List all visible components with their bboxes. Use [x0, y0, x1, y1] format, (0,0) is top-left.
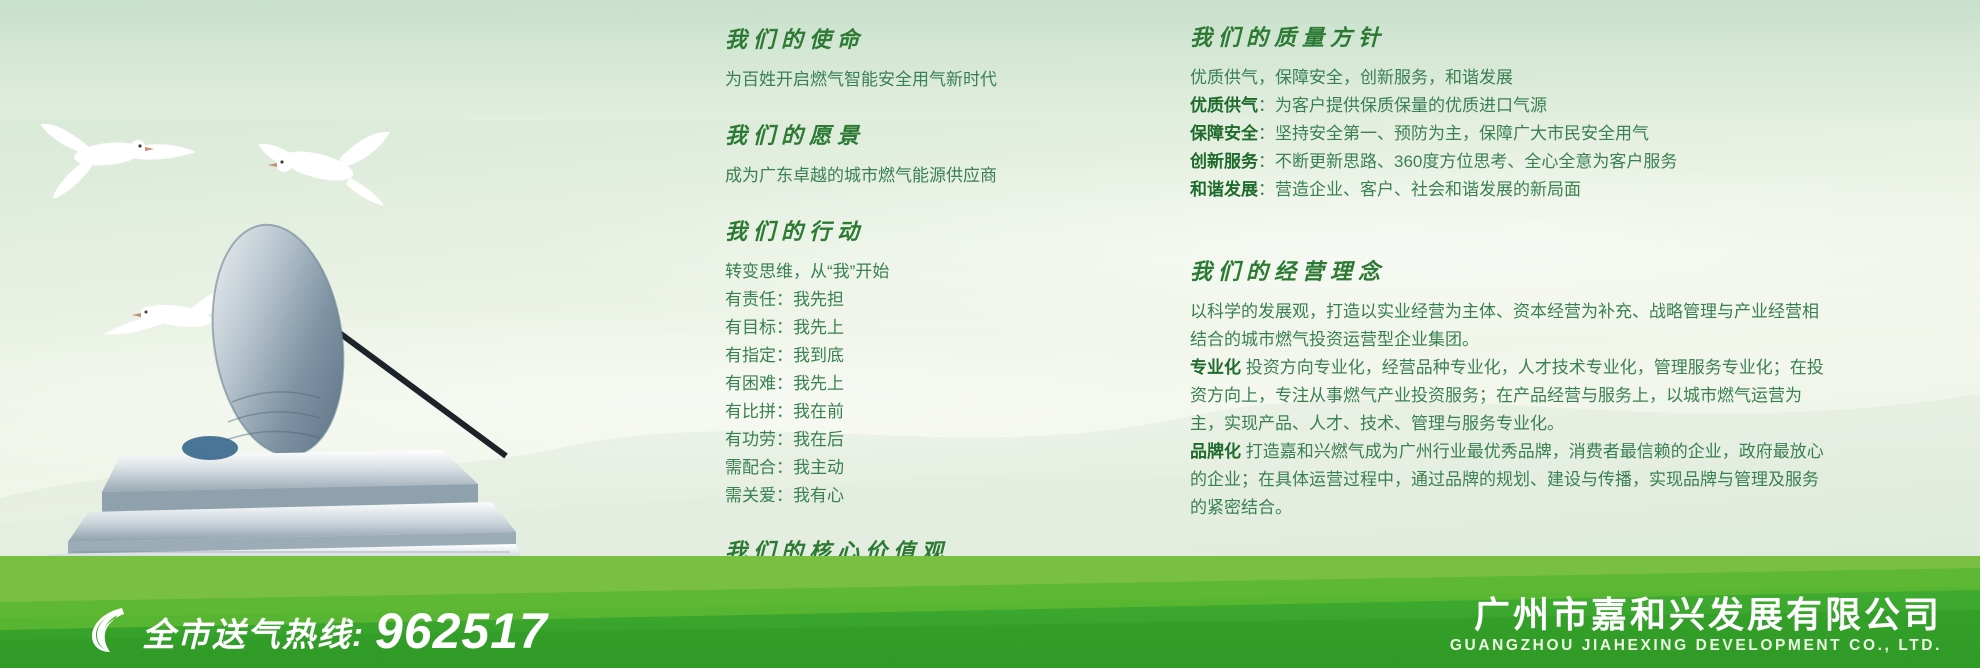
action-line: 需配合：我主动 [725, 454, 1125, 482]
company-identity: 广州市嘉和兴发展有限公司 GUANGZHOU JIAHEXING DEVELOP… [1450, 595, 1942, 656]
poster-canvas: 我们的使命 为百姓开启燃气智能安全用气新时代 我们的愿景 成为广东卓越的城市燃气… [0, 0, 1980, 668]
quality-policy-key: 和谐发展 [1190, 180, 1258, 199]
stone-sundial-sculpture [10, 140, 530, 570]
phone-icon [86, 604, 132, 654]
mission-block: 我们的使命 为百姓开启燃气智能安全用气新时代 [725, 22, 1125, 94]
management-philosophy-item: 专业化 投资方向专业化，经营品种专业化，人才技术专业化，管理服务专业化；在投资方… [1190, 354, 1830, 438]
quality-policy-summary: 优质供气，保障安全，创新服务，和谐发展 [1190, 64, 1830, 92]
action-line: 有功劳：我在后 [725, 426, 1125, 454]
quality-policy-key: 优质供气 [1190, 96, 1258, 115]
action-heading: 我们的行动 [725, 214, 1125, 246]
action-line: 转变思维，从“我”开始 [725, 258, 1125, 286]
hotline-group: 全市送气热线: 962517 [86, 604, 548, 654]
company-name-en: GUANGZHOU JIAHEXING DEVELOPMENT CO., LTD… [1450, 637, 1942, 656]
quality-policy-sep: ： [1258, 152, 1275, 171]
quality-policy-text: 坚持安全第一、预防为主，保障广大市民安全用气 [1275, 124, 1649, 143]
vision-block: 我们的愿景 成为广东卓越的城市燃气能源供应商 [725, 118, 1125, 190]
action-line: 有目标：我先上 [725, 314, 1125, 342]
hotline-number: 962517 [375, 608, 548, 654]
quality-policy-sep: ： [1258, 124, 1275, 143]
action-line: 有责任：我先担 [725, 286, 1125, 314]
quality-policy-text: 营造企业、客户、社会和谐发展的新局面 [1275, 180, 1581, 199]
management-philosophy-heading: 我们的经营理念 [1190, 254, 1830, 286]
quality-policy-item: 优质供气：为客户提供保质保量的优质进口气源 [1190, 92, 1830, 120]
action-line: 有困难：我先上 [725, 370, 1125, 398]
management-philosophy-item: 品牌化 打造嘉和兴燃气成为广州行业最优秀品牌，消费者最信赖的企业，政府最放心的企… [1190, 438, 1830, 522]
action-line: 需关爱：我有心 [725, 482, 1125, 510]
quality-policy-item: 创新服务：不断更新思路、360度方位思考、全心全意为客户服务 [1190, 148, 1830, 176]
quality-policy-block: 我们的质量方针 优质供气，保障安全，创新服务，和谐发展 优质供气：为客户提供保质… [1190, 20, 1830, 204]
action-line: 有比拼：我在前 [725, 398, 1125, 426]
action-line: 有指定：我到底 [725, 342, 1125, 370]
management-philosophy-key: 品牌化 [1190, 442, 1241, 461]
right-text-column: 我们的质量方针 优质供气，保障安全，创新服务，和谐发展 优质供气：为客户提供保质… [1190, 20, 1830, 644]
section-spacer [1190, 228, 1830, 254]
bottom-banner: 全市送气热线: 962517 广州市嘉和兴发展有限公司 GUANGZHOU JI… [0, 556, 1980, 668]
quality-policy-text: 为客户提供保质保量的优质进口气源 [1275, 96, 1547, 115]
quality-policy-heading: 我们的质量方针 [1190, 20, 1830, 52]
quality-policy-item: 和谐发展：营造企业、客户、社会和谐发展的新局面 [1190, 176, 1830, 204]
management-philosophy-text: 打造嘉和兴燃气成为广州行业最优秀品牌，消费者最信赖的企业，政府最放心的企业；在具… [1190, 442, 1824, 517]
mission-line: 为百姓开启燃气智能安全用气新时代 [725, 66, 1125, 94]
vision-heading: 我们的愿景 [725, 118, 1125, 150]
mission-heading: 我们的使命 [725, 22, 1125, 54]
quality-policy-sep: ： [1258, 96, 1275, 115]
quality-policy-text: 不断更新思路、360度方位思考、全心全意为客户服务 [1275, 152, 1677, 171]
quality-policy-key: 保障安全 [1190, 124, 1258, 143]
management-philosophy-block: 我们的经营理念 以科学的发展观，打造以实业经营为主体、资本经营为补充、战略管理与… [1190, 254, 1830, 522]
company-name-cn: 广州市嘉和兴发展有限公司 [1450, 595, 1942, 635]
vision-line: 成为广东卓越的城市燃气能源供应商 [725, 162, 1125, 190]
quality-policy-key: 创新服务 [1190, 152, 1258, 171]
quality-policy-sep: ： [1258, 180, 1275, 199]
management-philosophy-text: 投资方向专业化，经营品种专业化，人才技术专业化，管理服务专业化；在投资方向上，专… [1190, 358, 1824, 433]
management-philosophy-intro: 以科学的发展观，打造以实业经营为主体、资本经营为补充、战略管理与产业经营相结合的… [1190, 298, 1830, 354]
action-block: 我们的行动 转变思维，从“我”开始 有责任：我先担 有目标：我先上 有指定：我到… [725, 214, 1125, 510]
management-philosophy-key: 专业化 [1190, 358, 1241, 377]
quality-policy-item: 保障安全：坚持安全第一、预防为主，保障广大市民安全用气 [1190, 120, 1830, 148]
hotline-label: 全市送气热线: [142, 618, 365, 654]
